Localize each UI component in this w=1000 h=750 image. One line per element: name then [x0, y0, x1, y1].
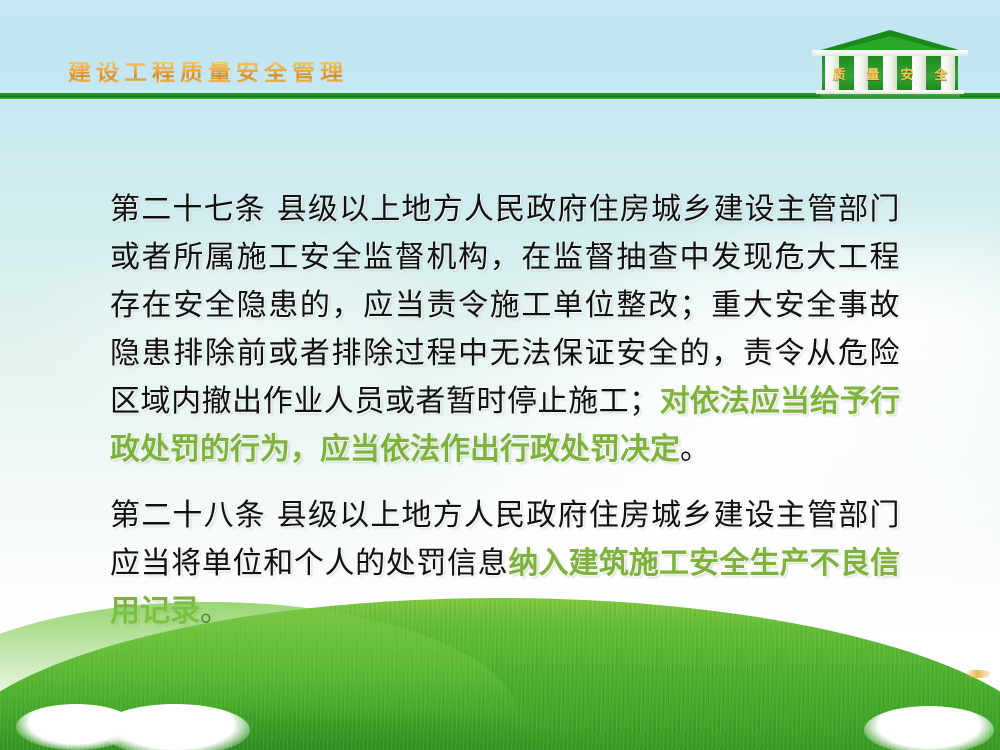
temple-column-5	[941, 56, 955, 90]
slide: 建设工程质量安全管理 质 量 安 全 第二十	[0, 0, 1000, 750]
page-title: 建设工程质量安全管理	[68, 62, 348, 85]
article-27-text-tail: 。	[680, 432, 711, 467]
temple-column-3	[883, 56, 897, 90]
quality-safety-temple-logo: 质 量 安 全	[806, 30, 974, 98]
cloud-decoration-right	[864, 706, 994, 750]
paragraph-article-27: 第二十七条 县级以上地方人民政府住房城乡建设主管部门或者所属施工安全监督机构，在…	[110, 186, 900, 474]
temple-stylobate-bottom	[820, 94, 960, 98]
slide-body: 第二十七条 县级以上地方人民政府住房城乡建设主管部门或者所属施工安全监督机构，在…	[110, 186, 900, 636]
temple-column-2	[854, 56, 868, 90]
temple-columns	[822, 56, 958, 90]
cloud-decoration-center	[100, 704, 250, 750]
temple-column-1	[825, 56, 839, 90]
temple-column-4	[912, 56, 926, 90]
horizon-speck-decoration	[964, 670, 990, 678]
slide-header: 建设工程质量安全管理 质 量 安 全	[0, 0, 1000, 100]
